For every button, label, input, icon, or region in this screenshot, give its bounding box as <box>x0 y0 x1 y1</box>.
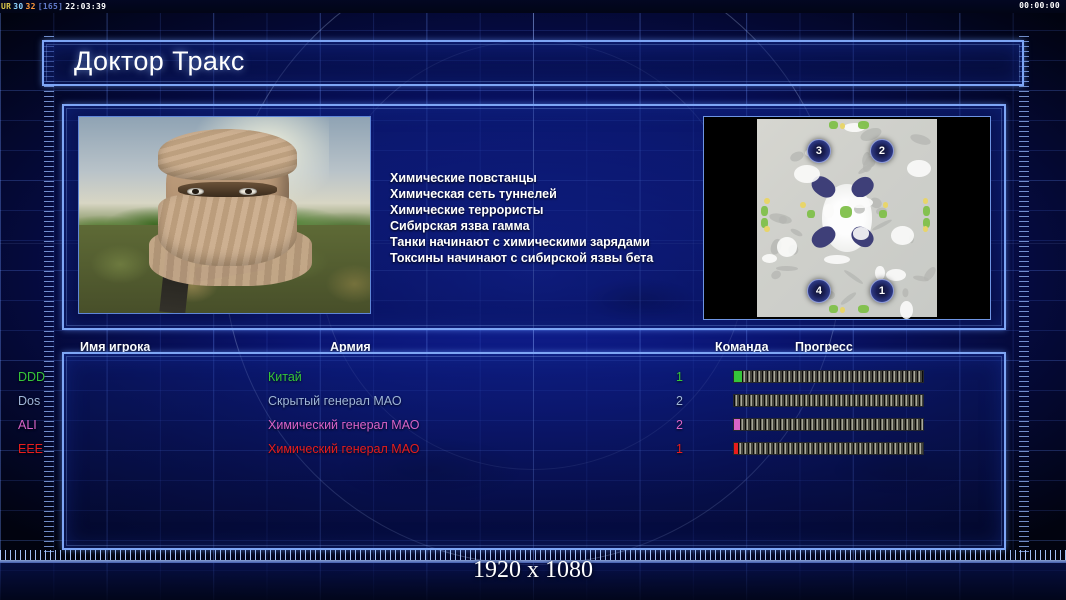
portrait-headwrap <box>158 129 298 180</box>
map-snow-patch <box>794 165 820 183</box>
player-name: ALI <box>18 418 37 432</box>
general-portrait <box>78 116 371 314</box>
map-supply-dock <box>800 202 805 208</box>
status-segment-time: 22:03:39 <box>64 2 107 11</box>
map-terrain-patch <box>909 132 931 147</box>
player-team: 2 <box>676 418 683 432</box>
player-team: 1 <box>676 442 683 456</box>
description-line: Танки начинают с химическими зарядами <box>390 234 700 250</box>
map-forest-center <box>840 206 853 218</box>
top-status-bar: UR 30 32 [165] 22:03:39 00:00:00 <box>0 0 1066 13</box>
map-terrain-patch <box>902 288 908 297</box>
player-team: 2 <box>676 394 683 408</box>
player-row[interactable]: ALIХимический генерал МАО2 <box>0 413 944 437</box>
map-forest-cluster <box>829 121 838 129</box>
map-supply-dock <box>764 198 769 204</box>
map-snow-patch <box>823 204 834 217</box>
map-snow-patch <box>886 269 906 281</box>
player-progress-track <box>738 443 923 454</box>
map-snow-patch <box>824 255 850 265</box>
player-progress-track <box>740 419 923 430</box>
player-team: 1 <box>676 370 683 384</box>
player-army: Китай <box>268 370 302 384</box>
map-start-position-3: 3 <box>807 139 831 163</box>
description-line: Химические террористы <box>390 202 700 218</box>
player-row[interactable]: EEEХимический генерал МАО1 <box>0 437 944 461</box>
player-army: Химический генерал МАО <box>268 418 419 432</box>
player-progress-track <box>734 395 923 406</box>
map-terrain-patch <box>840 291 858 307</box>
player-row[interactable]: DDDКитай1 <box>0 365 944 389</box>
map-start-position-4: 4 <box>807 279 831 303</box>
status-segment-ping: 32 <box>24 2 36 11</box>
player-row[interactable]: DosСкрытый генерал МАО2 <box>0 389 944 413</box>
map-forest-cluster <box>807 210 814 218</box>
page-title: Доктор Тракс <box>74 46 245 77</box>
player-progress-bar <box>733 370 924 383</box>
map-preview: 3241 <box>703 116 991 320</box>
player-progress-bar <box>733 394 924 407</box>
map-supply-dock <box>840 307 845 313</box>
portrait-pupil-right <box>245 189 252 195</box>
map-supply-dock <box>923 226 928 232</box>
description-line: Химическая сеть туннелей <box>390 186 700 202</box>
player-army: Химический генерал МАО <box>268 442 419 456</box>
status-clock-right: 00:00:00 <box>1019 1 1060 10</box>
player-name: EEE <box>18 442 43 456</box>
map-terrain-patch <box>776 266 798 271</box>
map-snow-patch <box>891 226 914 245</box>
map-start-position-1: 1 <box>870 279 894 303</box>
map-snow-patch <box>900 301 913 319</box>
map-forest-cluster <box>829 305 838 313</box>
map-supply-dock <box>923 198 928 204</box>
map-snow-patch <box>847 197 873 208</box>
map-forest-cluster <box>879 210 886 218</box>
map-forest-cluster <box>761 206 768 216</box>
status-segment-bracket: [165] <box>37 2 65 11</box>
description-line: Токсины начинают с сибирской язвы бета <box>390 250 700 266</box>
map-snow-patch <box>907 160 931 178</box>
map-start-position-2: 2 <box>870 139 894 163</box>
map-snow-patch <box>853 227 870 239</box>
portrait-face-mask <box>158 195 298 266</box>
map-supply-dock <box>883 202 888 208</box>
map-forest-cluster <box>858 305 869 313</box>
map-terrain-patch <box>770 269 782 280</box>
player-progress-bar <box>733 442 924 455</box>
player-name: DDD <box>18 370 45 384</box>
map-supply-dock <box>764 226 769 232</box>
status-segment-ur: UR <box>0 2 12 11</box>
description-line: Сибирская язва гамма <box>390 218 700 234</box>
resolution-label: 1920 x 1080 <box>0 557 1066 584</box>
map-forest-cluster <box>858 121 869 129</box>
map-terrain-patch <box>789 149 806 163</box>
player-progress-track <box>742 371 923 382</box>
map-snow-patch <box>762 254 777 263</box>
map-forest-cluster <box>923 206 930 216</box>
general-description-list: Химические повстанцыХимическая сеть тунн… <box>390 170 700 266</box>
ruler-strip-right <box>1019 36 1029 556</box>
player-name: Dos <box>18 394 40 408</box>
ruler-strip-left <box>44 36 54 556</box>
player-progress-fill <box>734 371 742 382</box>
player-progress-bar <box>733 418 924 431</box>
map-terrain-patch <box>922 266 938 283</box>
status-segment-fps: 30 <box>12 2 24 11</box>
description-line: Химические повстанцы <box>390 170 700 186</box>
map-terrain-patch <box>790 227 804 237</box>
map-terrain-patch <box>871 218 892 232</box>
map-terrain-patch <box>843 269 864 286</box>
map-snow-patch <box>777 237 797 257</box>
map-terrain <box>757 119 937 317</box>
player-army: Скрытый генерал МАО <box>268 394 402 408</box>
